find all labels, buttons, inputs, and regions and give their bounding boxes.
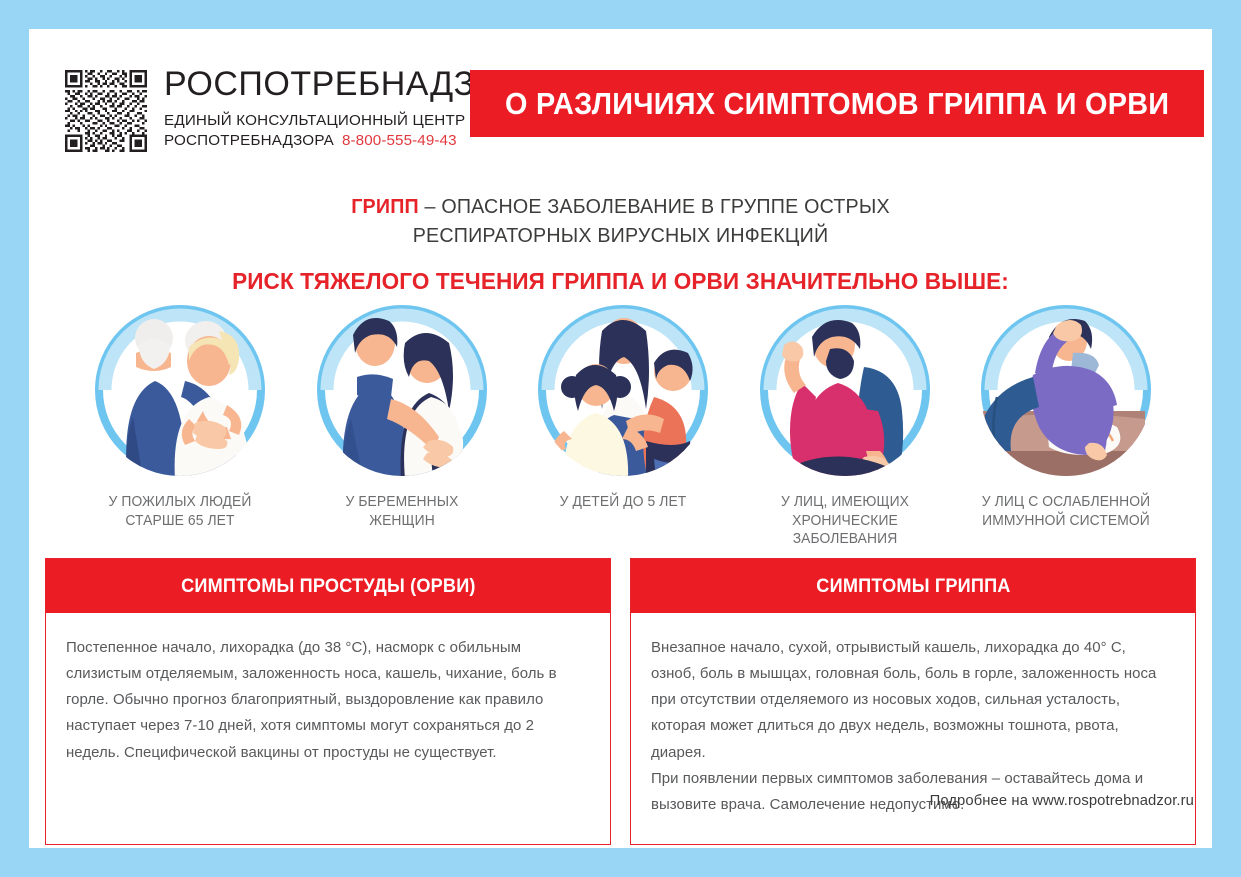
flu-symptoms-text: Внезапное начало, сухой, отрывистый каше… (651, 635, 1167, 766)
hotline-phone-number: 8-800-555-49-43 (342, 132, 457, 149)
pregnant-couple-icon (313, 301, 491, 479)
intro-line-1: ГРИПП – ОПАСНОЕ ЗАБОЛЕВАНИЕ В ГРУППЕ ОСТ… (53, 192, 1189, 221)
intro-line-2: РЕСПИРАТОРНЫХ ВИРУСНЫХ ИНФЕКЦИЙ (53, 221, 1189, 250)
intro-highlight-word: ГРИПП (351, 195, 419, 218)
caption-line-1: У ДЕТЕЙ ДО 5 ЛЕТ (525, 493, 721, 512)
cold-panel-body: Постепенное начало, лихорадка (до 38 °C)… (46, 613, 610, 792)
risk-group-immunity: У ЛИЦ С ОСЛАБЛЕННОЙ ИММУННОЙ СИСТЕМОЙ (963, 301, 1169, 549)
risk-group-caption: У ПОЖИЛЫХ ЛЮДЕЙ СТАРШЕ 65 ЛЕТ (82, 493, 278, 530)
cold-symptoms-text: Постепенное начало, лихорадка (до 38 °C)… (66, 635, 582, 766)
title-banner: О РАЗЛИЧИЯХ СИМПТОМОВ ГРИППА И ОРВИ (470, 70, 1204, 137)
flu-panel-body: Внезапное начало, сухой, отрывистый каше… (631, 613, 1195, 844)
risk-group-caption: У ЛИЦ С ОСЛАБЛЕННОЙ ИММУННОЙ СИСТЕМОЙ (968, 493, 1164, 530)
poster-title: О РАЗЛИЧИЯХ СИМПТОМОВ ГРИППА И ОРВИ (505, 86, 1169, 122)
footer-more-info: Подробнее на www.rospotrebnadzor.ru (930, 793, 1194, 809)
caption-line-1: У ЛИЦ С ОСЛАБЛЕННОЙ (968, 493, 1164, 512)
caption-line-1: У ПОЖИЛЫХ ЛЮДЕЙ (82, 493, 278, 512)
flu-advice-text: При появлении первых симптомов заболеван… (651, 766, 1167, 818)
risk-group-elderly: У ПОЖИЛЫХ ЛЮДЕЙ СТАРШЕ 65 ЛЕТ (77, 301, 283, 549)
poster-header: РОСПОТРЕБНАДЗОР ЕДИНЫЙ КОНСУЛЬТАЦИОННЫЙ … (29, 29, 1212, 159)
man-weak-immunity-icon (977, 301, 1155, 479)
caption-line-2: ХРОНИЧЕСКИЕ ЗАБОЛЕВАНИЯ (747, 512, 943, 549)
caption-line-1: У БЕРЕМЕННЫХ (304, 493, 500, 512)
cold-panel-header: СИМПТОМЫ ПРОСТУДЫ (ОРВИ) (46, 559, 610, 613)
risk-group-caption: У ЛИЦ, ИМЕЮЩИХ ХРОНИЧЕСКИЕ ЗАБОЛЕВАНИЯ (747, 493, 943, 549)
flu-panel-title: СИМПТОМЫ ГРИППА (816, 575, 1010, 598)
risk-headline: РИСК ТЯЖЕЛОГО ТЕЧЕНИЯ ГРИППА И ОРВИ ЗНАЧ… (53, 268, 1189, 295)
poster-card: РОСПОТРЕБНАДЗОР ЕДИНЫЙ КОНСУЛЬТАЦИОННЫЙ … (29, 29, 1212, 848)
risk-group-children: У ДЕТЕЙ ДО 5 ЛЕТ (520, 301, 726, 549)
flu-panel-header: СИМПТОМЫ ГРИППА (631, 559, 1195, 613)
risk-group-pregnant: У БЕРЕМЕННЫХ ЖЕНЩИН (299, 301, 505, 549)
consult-center-label: РОСПОТРЕБНАДЗОРА (164, 132, 334, 149)
cold-symptoms-panel: СИМПТОМЫ ПРОСТУДЫ (ОРВИ) Постепенное нач… (45, 558, 611, 845)
brand-block: РОСПОТРЕБНАДЗОР ЕДИНЫЙ КОНСУЛЬТАЦИОННЫЙ … (65, 67, 524, 152)
caption-line-2: ИММУННОЙ СИСТЕМОЙ (968, 512, 1164, 531)
elderly-couple-icon (91, 301, 269, 479)
caption-line-2: ЖЕНЩИН (304, 512, 500, 531)
caption-line-1: У ЛИЦ, ИМЕЮЩИХ (747, 493, 943, 512)
risk-groups-row: У ПОЖИЛЫХ ЛЮДЕЙ СТАРШЕ 65 ЛЕТ (77, 301, 1169, 549)
caption-line-2: СТАРШЕ 65 ЛЕТ (82, 512, 278, 531)
cold-panel-title: СИМПТОМЫ ПРОСТУДЫ (ОРВИ) (181, 575, 476, 598)
qr-code-icon (65, 70, 147, 152)
risk-group-chronic: У ЛИЦ, ИМЕЮЩИХ ХРОНИЧЕСКИЕ ЗАБОЛЕВАНИЯ (742, 301, 948, 549)
man-with-chronic-illness-icon (756, 301, 934, 479)
intro-line-1-rest: – ОПАСНОЕ ЗАБОЛЕВАНИЕ В ГРУППЕ ОСТРЫХ (419, 195, 890, 218)
intro-section: ГРИПП – ОПАСНОЕ ЗАБОЛЕВАНИЕ В ГРУППЕ ОСТ… (29, 192, 1212, 295)
risk-group-caption: У БЕРЕМЕННЫХ ЖЕНЩИН (304, 493, 500, 530)
mother-with-children-icon (534, 301, 712, 479)
risk-group-caption: У ДЕТЕЙ ДО 5 ЛЕТ (525, 493, 721, 512)
